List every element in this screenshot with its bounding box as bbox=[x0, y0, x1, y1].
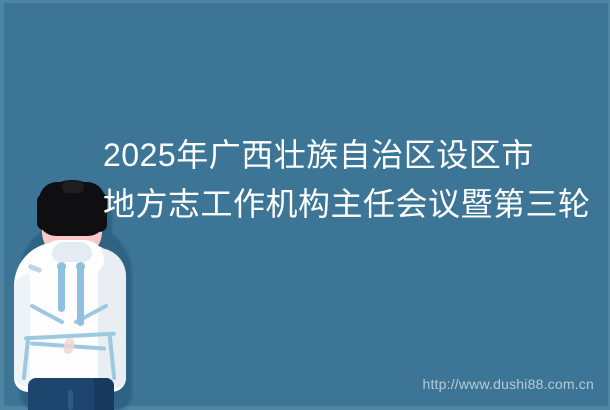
headline-text: 2025年广西壮族自治区设区市 地方志工作机构主任会议暨第三轮 bbox=[103, 131, 603, 229]
hair-highlight bbox=[62, 181, 84, 193]
watermark-url: http://www.dushi88.com.cn bbox=[422, 376, 594, 392]
promo-banner: 2025年广西壮族自治区设区市 地方志工作机构主任会议暨第三轮 http://w… bbox=[0, 0, 610, 410]
edge-strip-left bbox=[0, 0, 4, 410]
edge-strip-top bbox=[0, 0, 610, 3]
drawstring-left bbox=[58, 264, 65, 312]
pants-shadow bbox=[94, 378, 114, 410]
hood-inner bbox=[52, 242, 92, 262]
pants-leg-split bbox=[68, 390, 73, 410]
drawstring-right bbox=[77, 264, 84, 326]
